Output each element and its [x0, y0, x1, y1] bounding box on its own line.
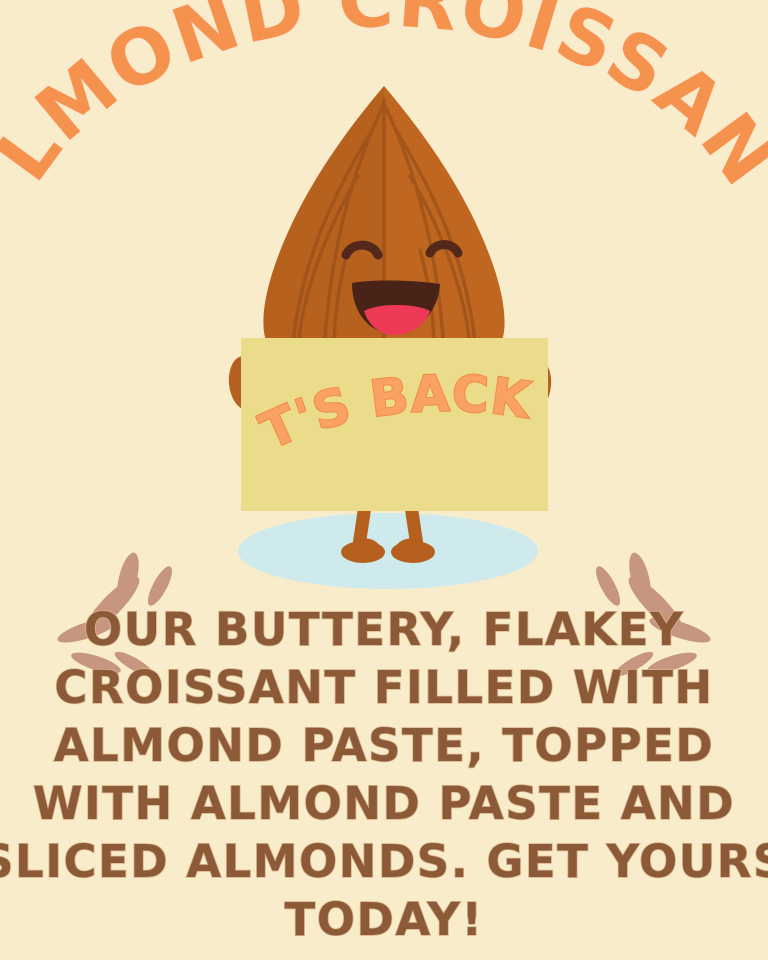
left-foot-pad: [341, 541, 385, 563]
body-copy-line: CROISSANT FILLED WITH: [54, 661, 713, 714]
body-copy-line: TODAY!: [285, 893, 484, 946]
promo-poster: ALMOND CROISSANT: [0, 0, 768, 960]
poster-canvas: ALMOND CROISSANT: [0, 0, 768, 960]
body-copy-line: OUR BUTTERY, FLAKEY: [84, 603, 684, 656]
body-copy-line: SLICED ALMONDS. GET YOURS: [0, 835, 768, 888]
right-foot-pad: [391, 541, 435, 563]
body-copy-line: ALMOND PASTE, TOPPED: [54, 719, 715, 772]
body-copy-line: WITH ALMOND PASTE AND: [33, 777, 735, 830]
ground-shadow: [238, 513, 538, 589]
